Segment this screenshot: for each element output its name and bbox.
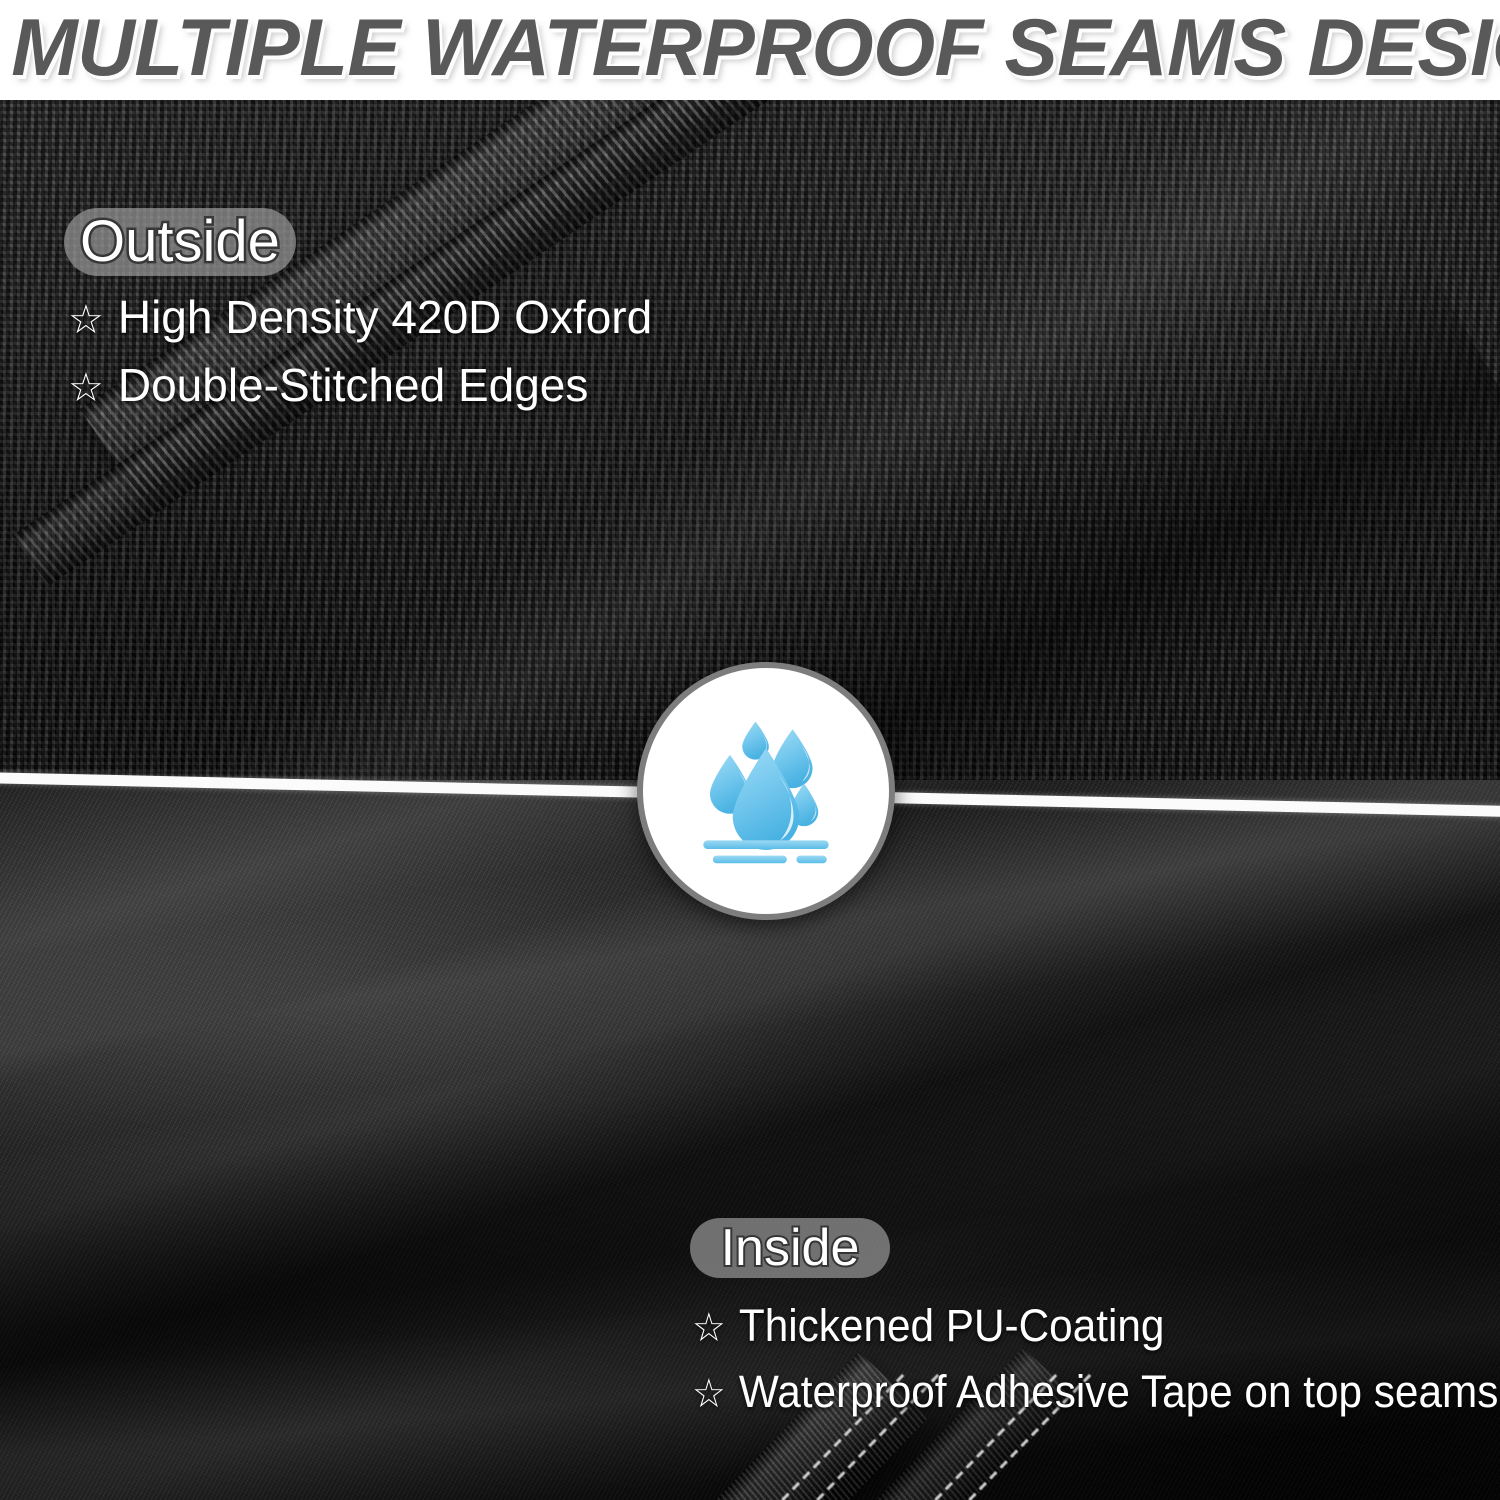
inside-label-text: Inside — [721, 1222, 860, 1274]
waterproof-badge — [637, 662, 895, 920]
list-item: ☆ High Density 420D Oxford — [68, 290, 652, 344]
feature-text: High Density 420D Oxford — [118, 290, 652, 344]
inside-feature-list: ☆ Thickened PU-Coating ☆ Waterproof Adhe… — [692, 1300, 1500, 1432]
inside-section-label: Inside — [690, 1218, 890, 1278]
star-icon: ☆ — [692, 1374, 726, 1414]
water-droplets-icon — [671, 696, 861, 886]
list-item: ☆ Double-Stitched Edges — [68, 358, 652, 412]
feature-text: Double-Stitched Edges — [118, 358, 589, 412]
page-title: MULTIPLE WATERPROOF SEAMS DESIGN — [11, 0, 1489, 100]
header-band: MULTIPLE WATERPROOF SEAMS DESIGN — [0, 0, 1500, 100]
infographic-canvas: MULTIPLE WATERPROOF SEAMS DESIGN Outside… — [0, 0, 1500, 1500]
outside-feature-list: ☆ High Density 420D Oxford ☆ Double-Stit… — [68, 290, 652, 426]
outside-label-text: Outside — [80, 213, 280, 271]
star-icon: ☆ — [68, 300, 104, 340]
list-item: ☆ Thickened PU-Coating — [692, 1300, 1498, 1352]
outside-section-label: Outside — [64, 208, 296, 276]
list-item: ☆ Waterproof Adhesive Tape on top seams — [692, 1366, 1498, 1418]
star-icon: ☆ — [692, 1308, 726, 1348]
star-icon: ☆ — [68, 368, 104, 408]
water-level-lines — [703, 840, 828, 863]
feature-text: Thickened PU-Coating — [739, 1300, 1165, 1352]
feature-text: Waterproof Adhesive Tape on top seams — [739, 1366, 1499, 1418]
